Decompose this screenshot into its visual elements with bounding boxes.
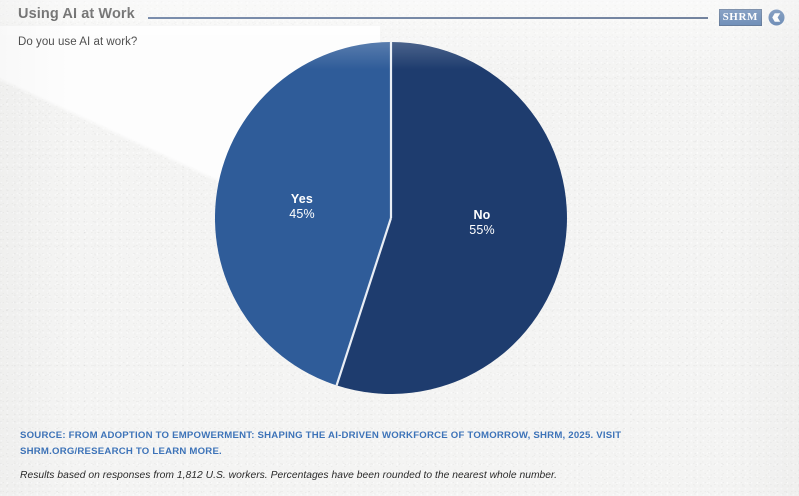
shrm-logo: SHRM — [719, 9, 785, 26]
shrm-wordmark: SHRM — [719, 9, 762, 26]
page-title: Using AI at Work — [18, 6, 135, 22]
source-citation: SOURCE: FROM ADOPTION TO EMPOWERMENT: SH… — [20, 428, 736, 459]
pie-chart — [215, 42, 567, 394]
header: Using AI at Work SHRM — [0, 0, 799, 36]
infographic-page: Using AI at Work SHRM Do you use AI at w… — [0, 0, 799, 496]
shrm-swoosh-icon — [768, 9, 785, 26]
chart-area: Yes 45% No 55% — [0, 42, 799, 422]
header-divider-rule — [148, 17, 708, 19]
methodology-note: Results based on responses from 1,812 U.… — [20, 470, 760, 481]
